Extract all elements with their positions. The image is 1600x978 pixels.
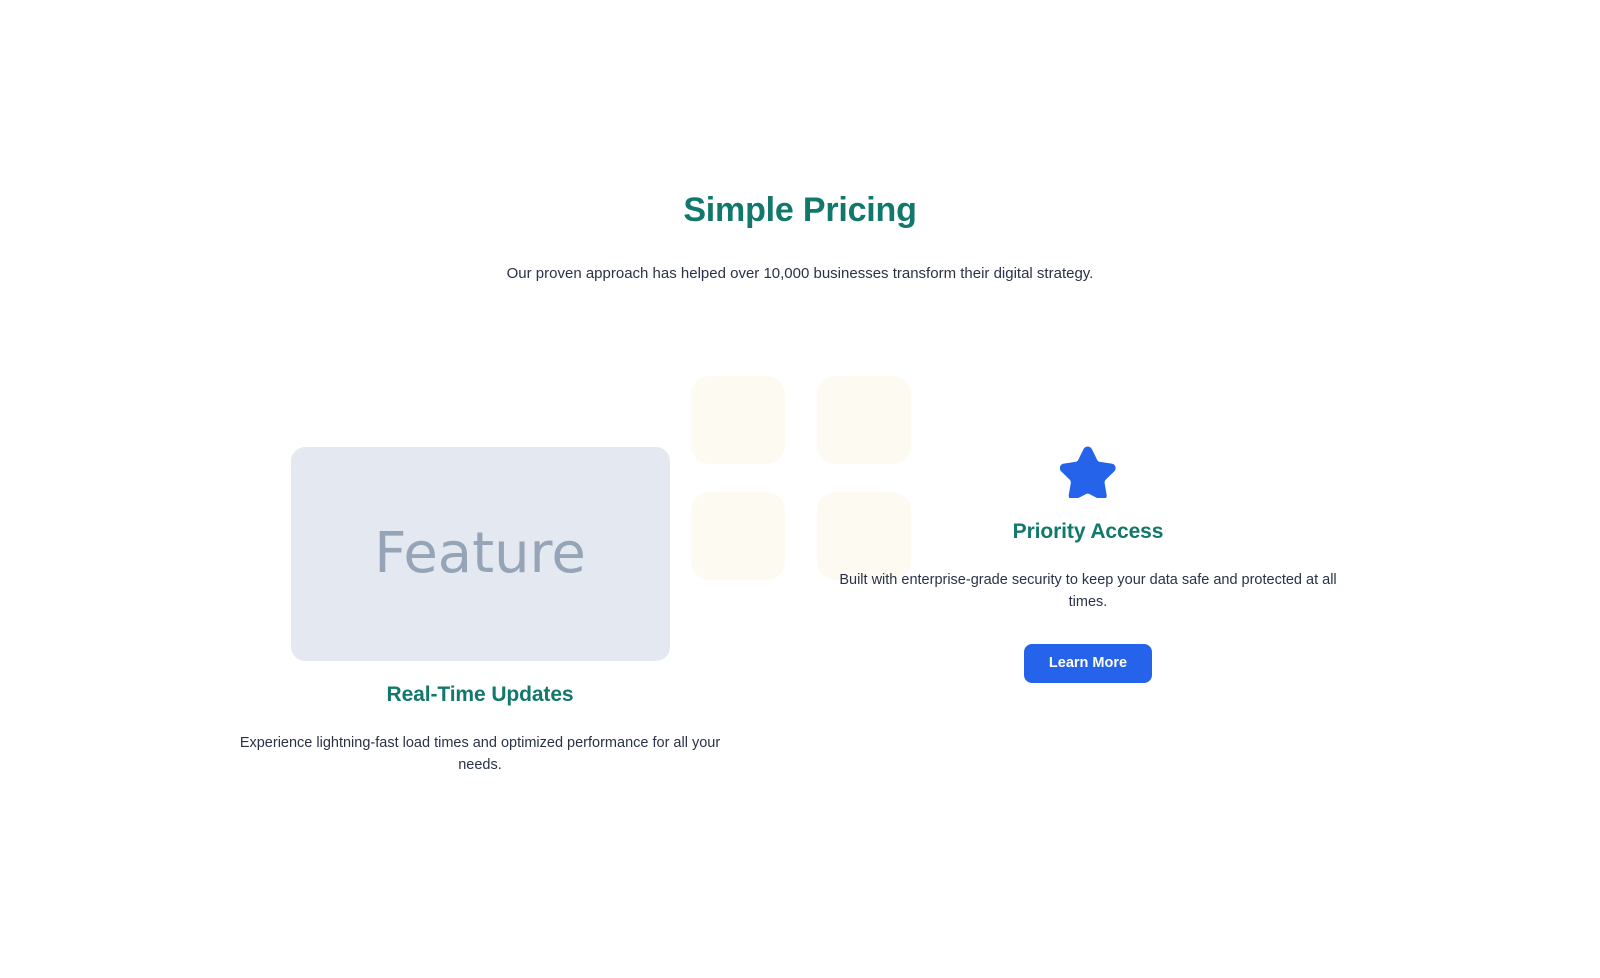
star-icon [1060, 444, 1116, 498]
feature-image-placeholder-label: Feature [374, 526, 586, 582]
learn-more-button[interactable]: Learn More [1024, 644, 1152, 684]
feature-icon-wrapper [838, 440, 1338, 502]
feature-title: Priority Access [838, 502, 1338, 545]
feature-description: Experience lightning-fast load times and… [230, 708, 730, 777]
feature-list: Feature Real-Time Updates Experience lig… [0, 0, 1600, 978]
feature-card-real-time-updates: Feature Real-Time Updates Experience lig… [230, 447, 730, 777]
feature-card-priority-access: Priority Access Built with enterprise-gr… [838, 440, 1338, 683]
feature-title: Real-Time Updates [230, 661, 730, 708]
feature-image-placeholder: Feature [291, 447, 670, 661]
feature-description: Built with enterprise-grade security to … [838, 545, 1338, 614]
